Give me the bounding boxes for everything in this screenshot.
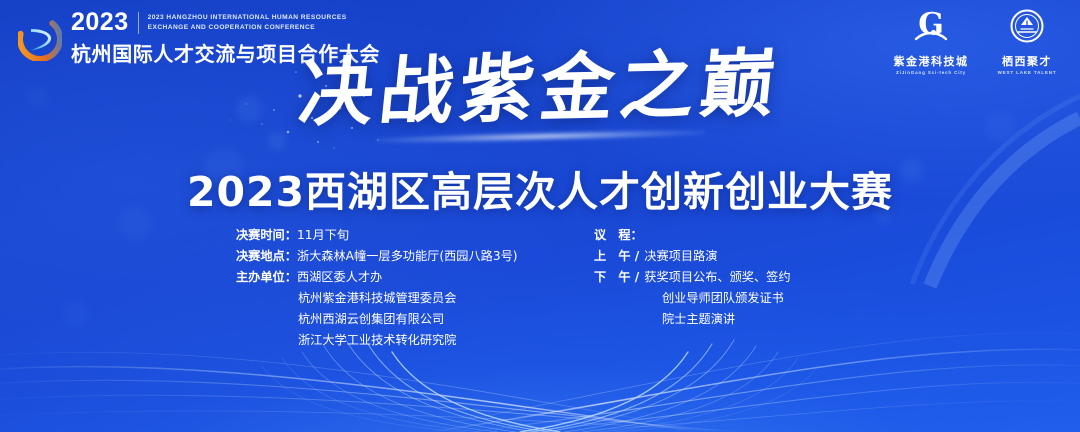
event-subtitle: 2023西湖区高层次人才创新创业大赛 bbox=[0, 158, 1080, 218]
conference-swoosh-logo-icon bbox=[18, 17, 62, 61]
organizer-name: 杭州西湖云创集团有限公司 bbox=[298, 309, 444, 330]
header-english-line1: 2023 HANGZHOU INTERNATIONAL HUMAN RESOUR… bbox=[148, 13, 347, 23]
agenda-column: 议 程： 上 午 / 决赛项目路演 下 午 / 获奖项目公布、颁奖、签约 创业导… bbox=[594, 225, 844, 351]
agenda-time-label: 下 午 / bbox=[594, 267, 639, 288]
bokeh-orb bbox=[268, 132, 286, 150]
agenda-row: 下 午 / 获奖项目公布、颁奖、签约 bbox=[594, 267, 844, 288]
organizer-name: 杭州紫金港科技城管理委员会 bbox=[298, 288, 456, 309]
detail-row: 主办单位： 西湖区委人才办 bbox=[236, 267, 536, 288]
agenda-row: 上 午 / 决赛项目路演 bbox=[594, 246, 844, 267]
agenda-subitem-row: 创业导师团队颁发证书 bbox=[594, 288, 844, 309]
header-english: 2023 HANGZHOU INTERNATIONAL HUMAN RESOUR… bbox=[148, 13, 347, 32]
agenda-title-row: 议 程： bbox=[594, 225, 844, 246]
detail-value: 11月下旬 bbox=[297, 225, 349, 246]
organizer-row: 杭州西湖云创集团有限公司 bbox=[236, 309, 536, 330]
agenda-item: 创业导师团队颁发证书 bbox=[662, 288, 784, 309]
details-column: 决赛时间： 11月下旬 决赛地点： 浙大森林A幢一层多功能厅(西园八路3号) 主… bbox=[236, 225, 536, 351]
detail-label: 决赛地点： bbox=[236, 246, 297, 267]
header-year: 2023 bbox=[71, 10, 129, 35]
detail-value: 西湖区委人才办 bbox=[297, 267, 382, 288]
header-english-line2: EXCHANGE AND COOPERATION CONFERENCE bbox=[148, 23, 347, 33]
header-divider bbox=[138, 12, 139, 34]
agenda-item: 院士主题演讲 bbox=[662, 309, 735, 330]
detail-label: 决赛时间： bbox=[236, 225, 297, 246]
agenda-item: 决赛项目路演 bbox=[639, 246, 717, 267]
detail-row: 决赛地点： 浙大森林A幢一层多功能厅(西园八路3号) bbox=[236, 246, 536, 267]
detail-row: 决赛时间： 11月下旬 bbox=[236, 225, 536, 246]
organizer-row: 浙江大学工业技术转化研究院 bbox=[236, 330, 536, 351]
info-section: 决赛时间： 11月下旬 决赛地点： 浙大森林A幢一层多功能厅(西园八路3号) 主… bbox=[0, 225, 1080, 351]
detail-value: 浙大森林A幢一层多功能厅(西园八路3号) bbox=[297, 246, 518, 267]
svg-text:G: G bbox=[918, 8, 944, 42]
detail-label: 主办单位： bbox=[236, 267, 297, 288]
organizer-row: 杭州紫金港科技城管理委员会 bbox=[236, 288, 536, 309]
organizer-name: 浙江大学工业技术转化研究院 bbox=[298, 330, 456, 351]
agenda-time-label: 上 午 / bbox=[594, 246, 639, 267]
agenda-item: 获奖项目公布、颁奖、签约 bbox=[639, 267, 790, 288]
poster-banner: 2023 2023 HANGZHOU INTERNATIONAL HUMAN R… bbox=[0, 0, 1080, 432]
agenda-title: 议 程： bbox=[594, 225, 643, 246]
agenda-subitem-row: 院士主题演讲 bbox=[594, 309, 844, 330]
header-top-row: 2023 2023 HANGZHOU INTERNATIONAL HUMAN R… bbox=[71, 10, 380, 35]
